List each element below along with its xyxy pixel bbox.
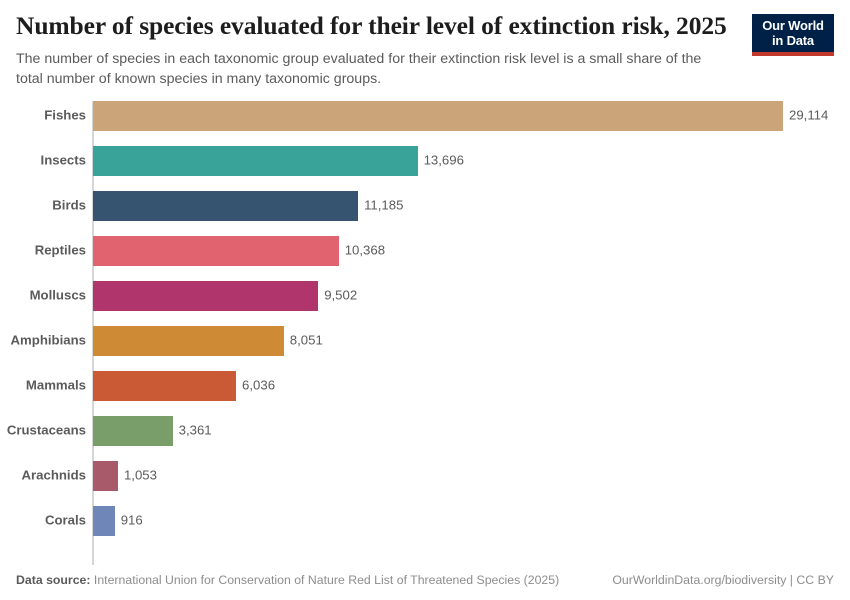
category-label: Crustaceans (0, 424, 86, 439)
value-label: 29,114 (789, 109, 828, 124)
bar[interactable] (93, 326, 284, 356)
bar[interactable] (93, 236, 339, 266)
value-label: 916 (121, 514, 143, 529)
bar-row[interactable]: Molluscs9,502 (0, 281, 850, 311)
plot-area: Fishes29,114Insects13,696Birds11,185Rept… (0, 101, 850, 573)
chart-footer: Data source: International Union for Con… (0, 573, 850, 600)
value-label: 11,185 (364, 199, 403, 214)
value-label: 1,053 (124, 469, 157, 484)
logo-line-2: in Data (758, 34, 828, 49)
bar-row[interactable]: Corals916 (0, 506, 850, 536)
bar-row[interactable]: Reptiles10,368 (0, 236, 850, 266)
category-label: Mammals (0, 379, 86, 394)
page-title: Number of species evaluated for their le… (16, 12, 834, 41)
chart-subtitle: The number of species in each taxonomic … (16, 49, 834, 89)
logo-line-1: Our World (758, 19, 828, 34)
data-source-text: International Union for Conservation of … (94, 573, 559, 587)
bar[interactable] (93, 506, 115, 536)
value-label: 8,051 (290, 334, 323, 349)
category-label: Arachnids (0, 469, 86, 484)
category-label: Fishes (0, 109, 86, 124)
category-label: Reptiles (0, 244, 86, 259)
bar-row[interactable]: Birds11,185 (0, 191, 850, 221)
bar-row[interactable]: Amphibians8,051 (0, 326, 850, 356)
category-label: Amphibians (0, 334, 86, 349)
bar[interactable] (93, 146, 418, 176)
bar-row[interactable]: Fishes29,114 (0, 101, 850, 131)
chart-header: Number of species evaluated for their le… (0, 0, 850, 89)
bar[interactable] (93, 101, 783, 131)
bar-row[interactable]: Insects13,696 (0, 146, 850, 176)
category-label: Insects (0, 154, 86, 169)
value-label: 6,036 (242, 379, 275, 394)
data-source-label: Data source: (16, 573, 91, 587)
bar[interactable] (93, 191, 358, 221)
bar-row[interactable]: Crustaceans3,361 (0, 416, 850, 446)
attribution-link[interactable]: OurWorldinData.org/biodiversity | CC BY (612, 573, 834, 588)
bar[interactable] (93, 371, 236, 401)
bar-row[interactable]: Mammals6,036 (0, 371, 850, 401)
bars-layer: Fishes29,114Insects13,696Birds11,185Rept… (0, 101, 850, 573)
category-label: Birds (0, 199, 86, 214)
chart-container: Number of species evaluated for their le… (0, 0, 850, 600)
bar-row[interactable]: Arachnids1,053 (0, 461, 850, 491)
bar[interactable] (93, 281, 318, 311)
value-label: 10,368 (345, 244, 385, 259)
category-label: Corals (0, 514, 86, 529)
value-label: 9,502 (324, 289, 357, 304)
data-source: Data source: International Union for Con… (16, 573, 559, 588)
value-label: 13,696 (424, 154, 464, 169)
bar[interactable] (93, 416, 173, 446)
value-label: 3,361 (179, 424, 212, 439)
bar[interactable] (93, 461, 118, 491)
our-world-in-data-logo[interactable]: Our World in Data (752, 14, 834, 56)
category-label: Molluscs (0, 289, 86, 304)
